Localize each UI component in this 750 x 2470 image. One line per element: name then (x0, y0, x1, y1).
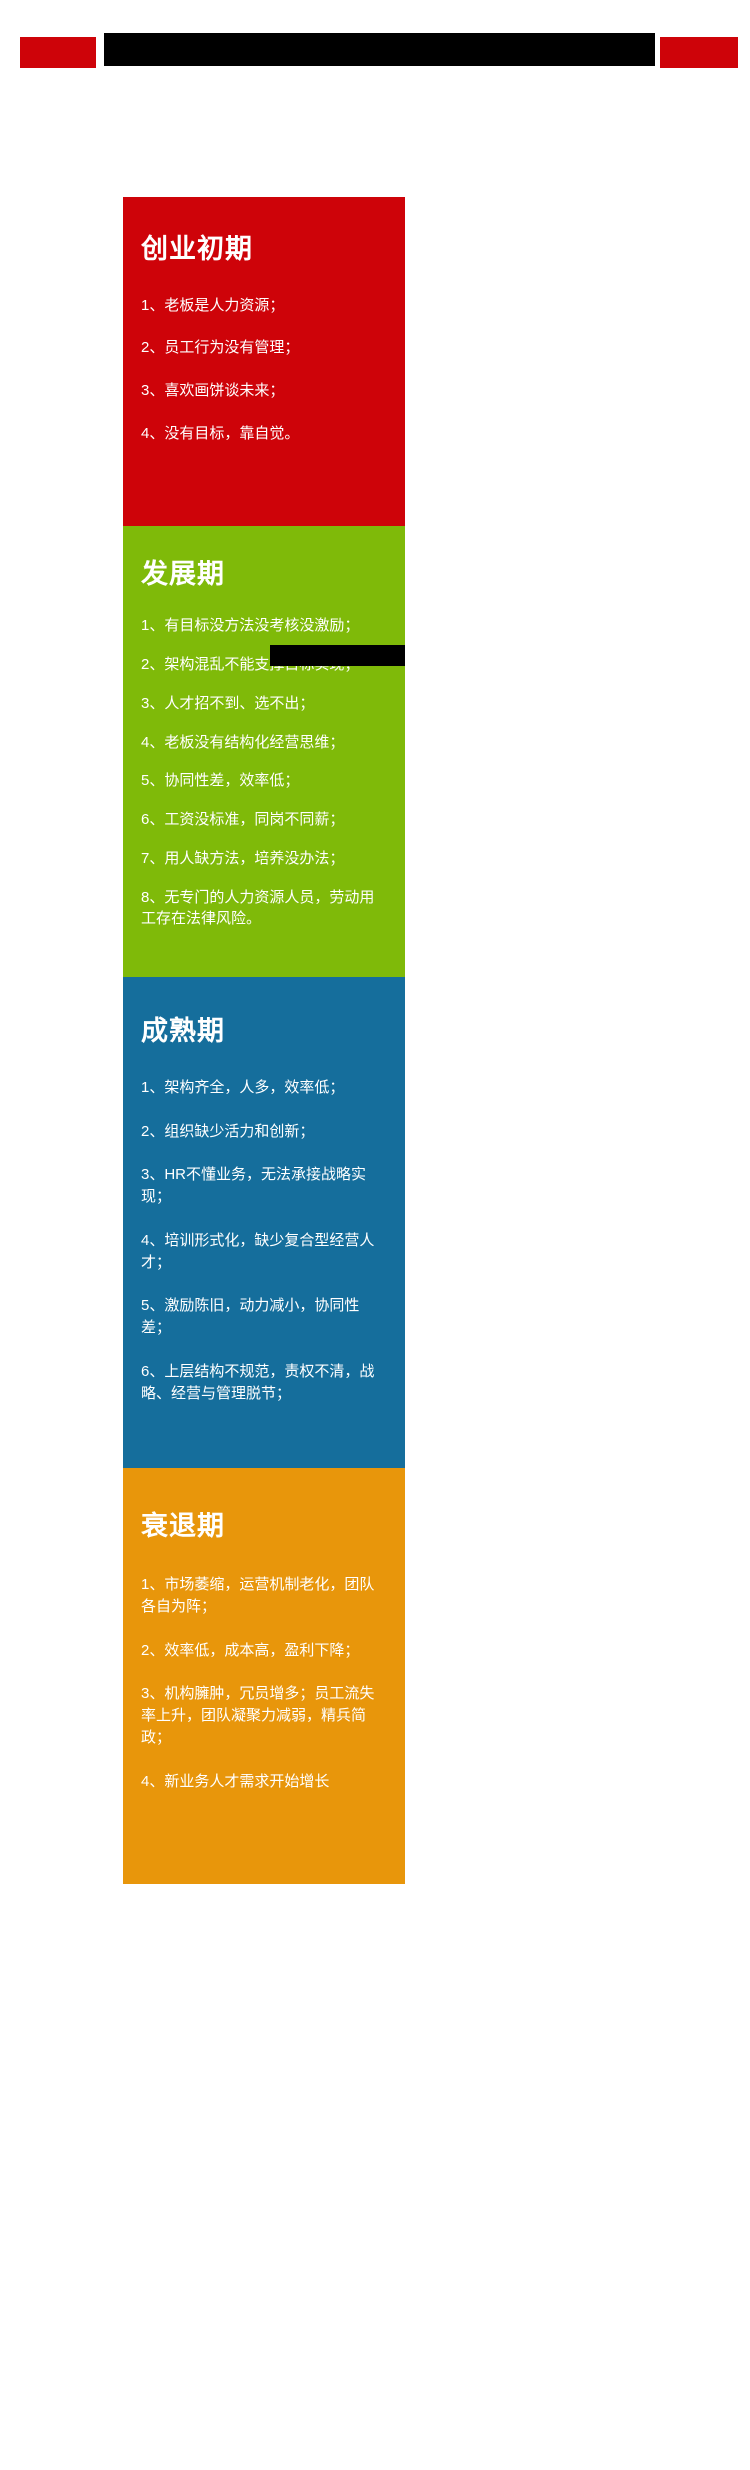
stage-item: 5、协同性差，效率低； (141, 770, 387, 792)
stage-title-decline: 衰退期 (141, 1512, 387, 1542)
lifecycle-stage-stack: 创业初期 1、老板是人力资源； 2、员工行为没有管理； 3、喜欢画饼谈未来； 4… (123, 197, 405, 1884)
header-red-block-left (20, 37, 96, 68)
header-red-block-right (660, 37, 738, 68)
stage-item: 3、HR不懂业务，无法承接战略实现； (141, 1164, 387, 1208)
stage-item-list-startup: 1、老板是人力资源； 2、员工行为没有管理； 3、喜欢画饼谈未来； 4、没有目标… (141, 295, 387, 445)
stage-item: 6、工资没标准，同岗不同薪； (141, 809, 387, 831)
stage-title-growth: 发展期 (141, 560, 387, 590)
stage-item: 4、老板没有结构化经营思维； (141, 732, 387, 754)
stage-item-list-mature: 1、架构齐全，人多，效率低； 2、组织缺少活力和创新； 3、HR不懂业务，无法承… (141, 1077, 387, 1405)
stage-title-mature: 成熟期 (141, 1017, 387, 1047)
stage-item: 6、上层结构不规范，责权不清，战略、经营与管理脱节； (141, 1361, 387, 1405)
stage-item: 3、喜欢画饼谈未来； (141, 380, 387, 402)
stage-panel-mature: 成熟期 1、架构齐全，人多，效率低； 2、组织缺少活力和创新； 3、HR不懂业务… (123, 977, 405, 1468)
stage-item: 5、激励陈旧，动力减小，协同性差； (141, 1295, 387, 1339)
stage-item: 3、机构臃肿，冗员增多；员工流失率上升，团队凝聚力减弱，精兵简政； (141, 1683, 387, 1748)
stage-item: 8、无专门的人力资源人员，劳动用工存在法律风险。 (141, 887, 387, 931)
stage-panel-growth: 发展期 1、有目标没方法没考核没激励； 2、架构混乱不能支撑目标实现； 3、人才… (123, 526, 405, 977)
header-redaction-bar (104, 33, 655, 66)
stage-item: 1、有目标没方法没考核没激励； (141, 615, 387, 637)
stage-item: 1、老板是人力资源； (141, 295, 387, 317)
stage-item: 1、市场萎缩，运营机制老化，团队各自为阵； (141, 1574, 387, 1618)
stage-item: 2、组织缺少活力和创新； (141, 1121, 387, 1143)
stage-panel-startup: 创业初期 1、老板是人力资源； 2、员工行为没有管理； 3、喜欢画饼谈未来； 4… (123, 197, 405, 526)
stage-panel-decline: 衰退期 1、市场萎缩，运营机制老化，团队各自为阵； 2、效率低，成本高，盈利下降… (123, 1468, 405, 1884)
stage-item: 4、培训形式化，缺少复合型经营人才； (141, 1230, 387, 1274)
stage-title-startup: 创业初期 (141, 235, 387, 265)
stage-item: 2、效率低，成本高，盈利下降； (141, 1640, 387, 1662)
stage-item: 2、员工行为没有管理； (141, 337, 387, 359)
stage-item-list-decline: 1、市场萎缩，运营机制老化，团队各自为阵； 2、效率低，成本高，盈利下降； 3、… (141, 1574, 387, 1792)
stage-item: 1、架构齐全，人多，效率低； (141, 1077, 387, 1099)
watermark-text: 远大方略 (266, 501, 405, 525)
stage-item: 4、新业务人才需求开始增长 (141, 1771, 387, 1793)
stage-item: 3、人才招不到、选不出； (141, 693, 387, 715)
seam-redaction-bar (270, 645, 405, 666)
header-strip (0, 0, 750, 100)
stage-item: 7、用人缺方法，培养没办法； (141, 848, 387, 870)
stage-item: 4、没有目标，靠自觉。 (141, 423, 387, 445)
